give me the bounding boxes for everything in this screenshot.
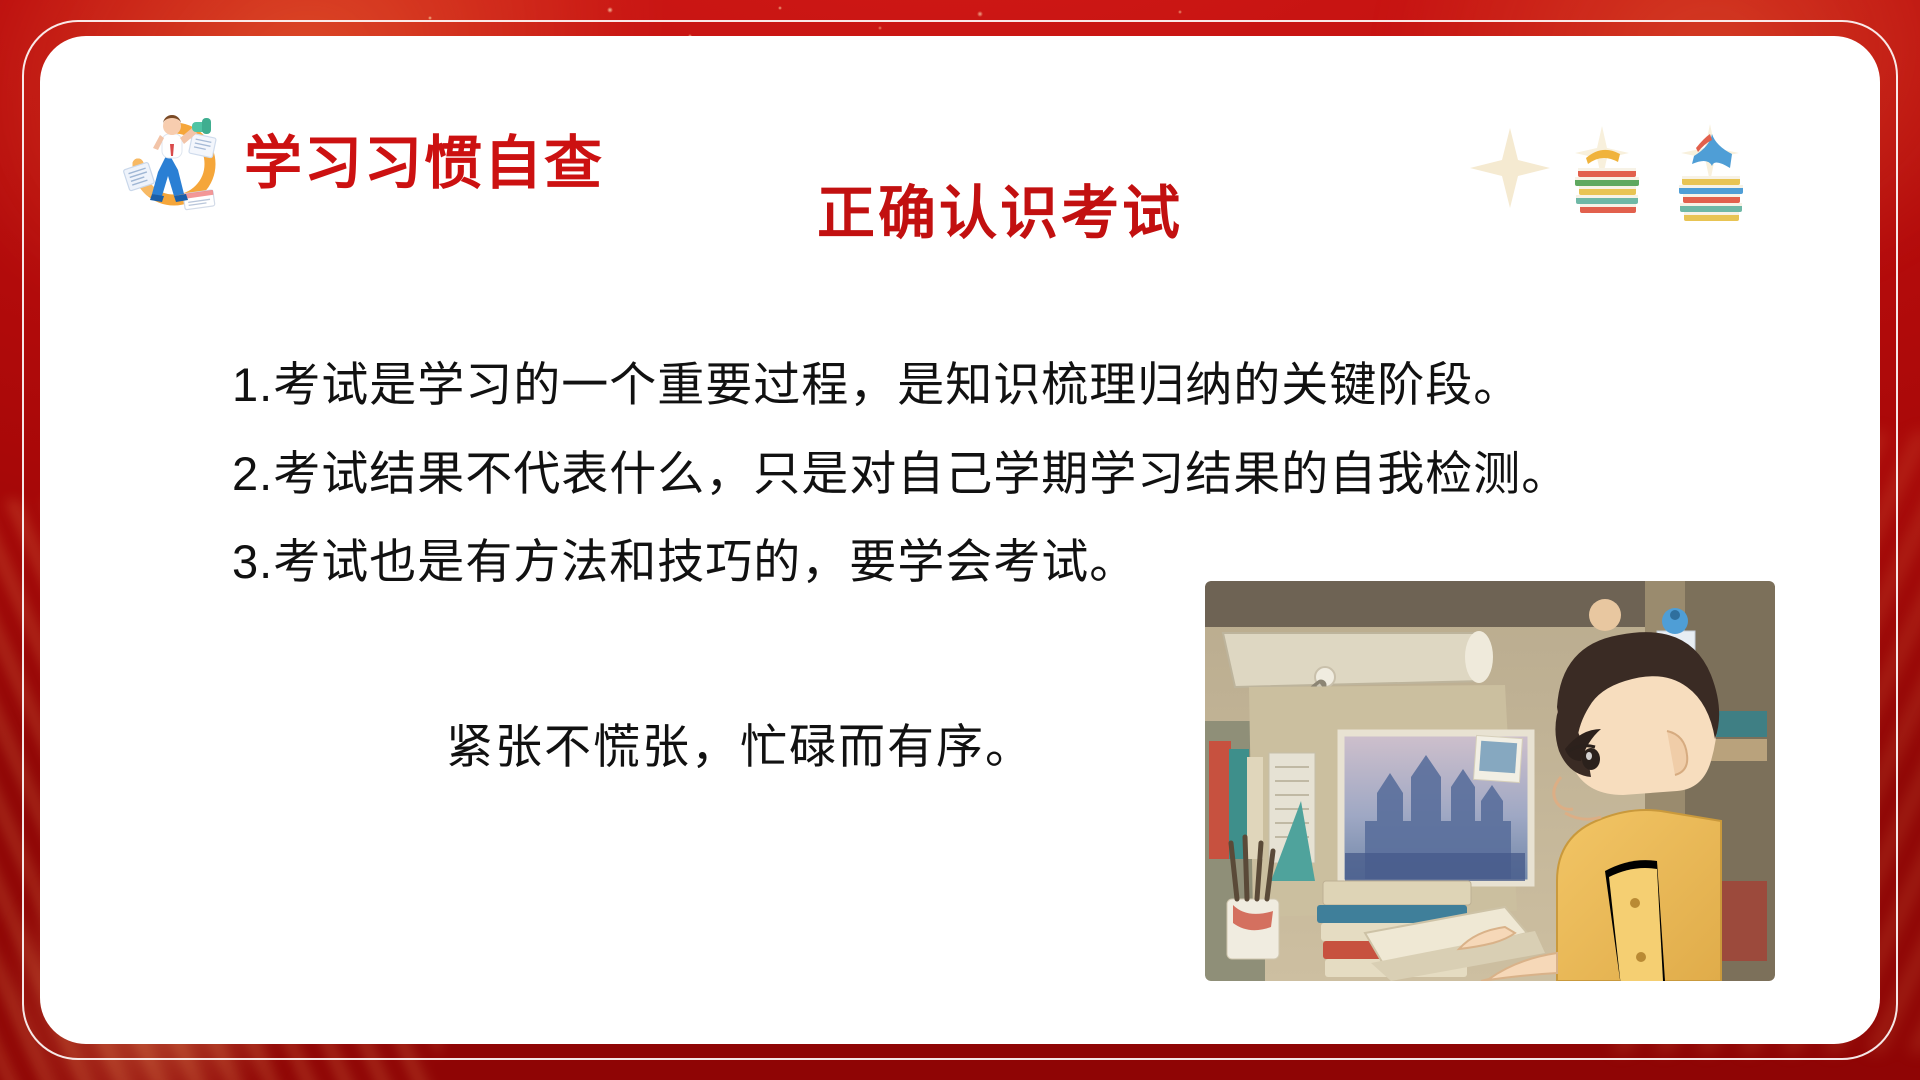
body-text-list: 1.考试是学习的一个重要过程，是知识梳理归纳的关键阶段。 2.考试结果不代表什么… xyxy=(232,352,1532,618)
decoration-books-group xyxy=(1468,94,1808,244)
anime-boy-studying-at-desk-photo xyxy=(1205,581,1775,981)
content-card: 学习习惯自查 正确认识考试 xyxy=(40,36,1880,1044)
quote-text: 紧张不慌张，忙碌而有序。 xyxy=(446,708,1034,777)
slide-root: 学习习惯自查 正确认识考试 xyxy=(0,0,1920,1080)
body-line-2: 2.考试结果不代表什么，只是对自己学期学习结果的自我检测。 xyxy=(232,441,1532,508)
photo-image xyxy=(1205,581,1775,981)
body-line-1: 1.考试是学习的一个重要过程，是知识梳理归纳的关键阶段。 xyxy=(232,352,1532,419)
